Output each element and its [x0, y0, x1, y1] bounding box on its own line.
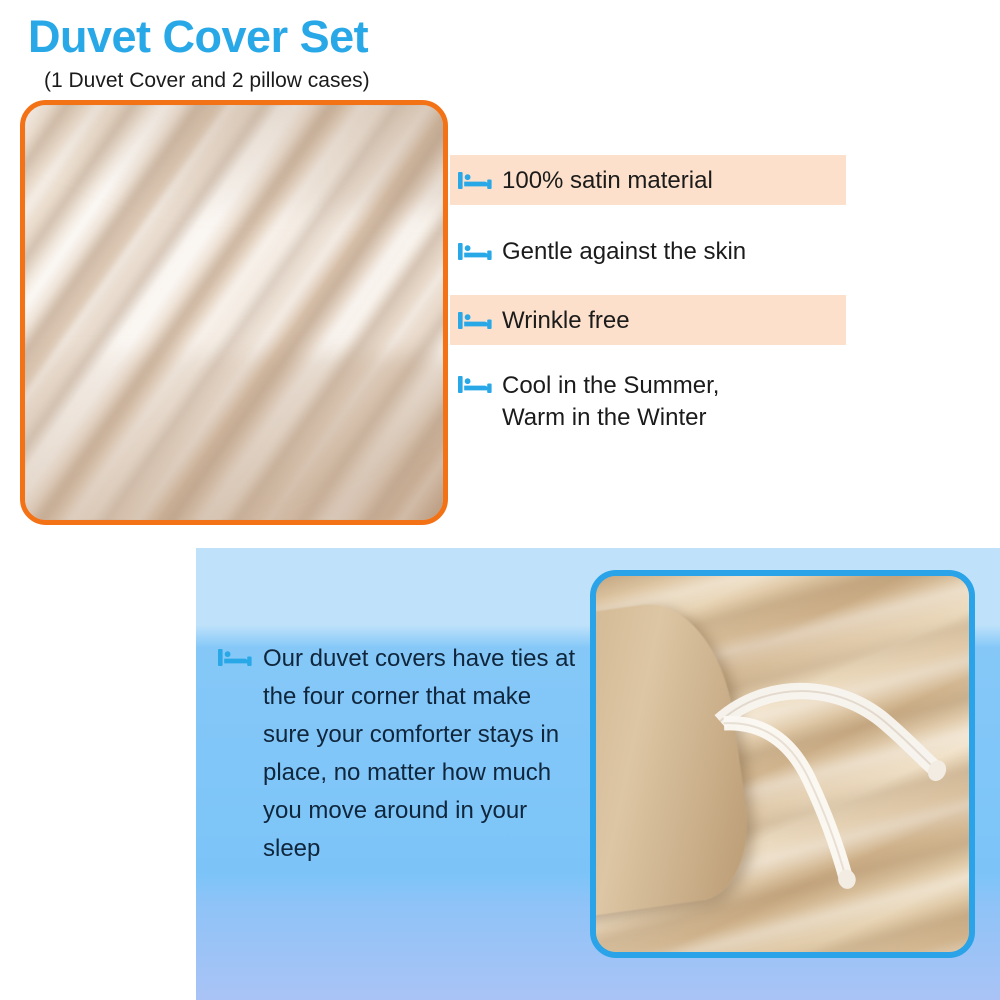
page-subtitle: (1 Duvet Cover and 2 pillow cases): [44, 70, 370, 91]
bed-icon: [218, 647, 252, 674]
feature-item-wrinkle-free: Wrinkle free: [450, 295, 846, 345]
satin-fabric-photo: [20, 100, 448, 525]
ties-description-text: Our duvet covers have ties at the four c…: [263, 640, 578, 868]
satin-fabric-top-shadow: [20, 100, 448, 209]
bed-icon: [458, 241, 492, 268]
bed-icon: [458, 374, 492, 401]
satin-fabric-bottom-shadow: [20, 354, 448, 525]
feature-label: Gentle against the skin: [502, 234, 746, 268]
feature-item-gentle-skin: Gentle against the skin: [450, 228, 846, 274]
page-title: Duvet Cover Set: [28, 14, 368, 59]
ties-description-block: Our duvet covers have ties at the four c…: [218, 640, 578, 868]
feature-item-cool-warm: Cool in the Summer, Warm in the Winter: [450, 368, 846, 444]
duvet-tie-photo: [590, 570, 975, 958]
bed-icon: [458, 170, 492, 197]
feature-item-satin-material: 100% satin material: [450, 155, 846, 205]
white-ribbon-ties: [596, 576, 969, 952]
feature-label: 100% satin material: [502, 163, 713, 197]
product-feature-infographic: Duvet Cover Set (1 Duvet Cover and 2 pil…: [0, 0, 1000, 1000]
bed-icon: [458, 310, 492, 337]
feature-label: Cool in the Summer, Warm in the Winter: [502, 368, 719, 434]
feature-label: Wrinkle free: [502, 303, 630, 337]
